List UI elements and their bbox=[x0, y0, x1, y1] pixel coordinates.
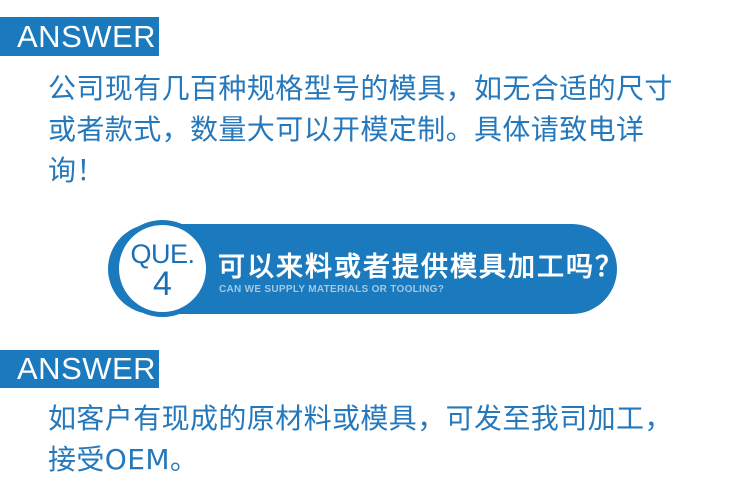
question-title: 可以来料或者提供模具加工吗？ bbox=[218, 245, 624, 284]
question-badge-number: 4 bbox=[153, 268, 172, 300]
answer-badge-2: ANSWER bbox=[0, 350, 159, 388]
answer-paragraph-2: 如客户有现成的原材料或模具，可发至我司加工，接受OEM。 bbox=[48, 398, 688, 480]
question-subtitle-english: CAN WE SUPPLY MATERIALS OR TOOLING? bbox=[219, 284, 444, 295]
question-badge-word: QUE. bbox=[130, 241, 194, 267]
question-number-badge: QUE. 4 bbox=[114, 220, 211, 317]
answer-paragraph-1: 公司现有几百种规格型号的模具，如无合适的尺寸或者款式，数量大可以开模定制。具体请… bbox=[48, 68, 688, 191]
answer-badge-1: ANSWER bbox=[0, 17, 159, 56]
